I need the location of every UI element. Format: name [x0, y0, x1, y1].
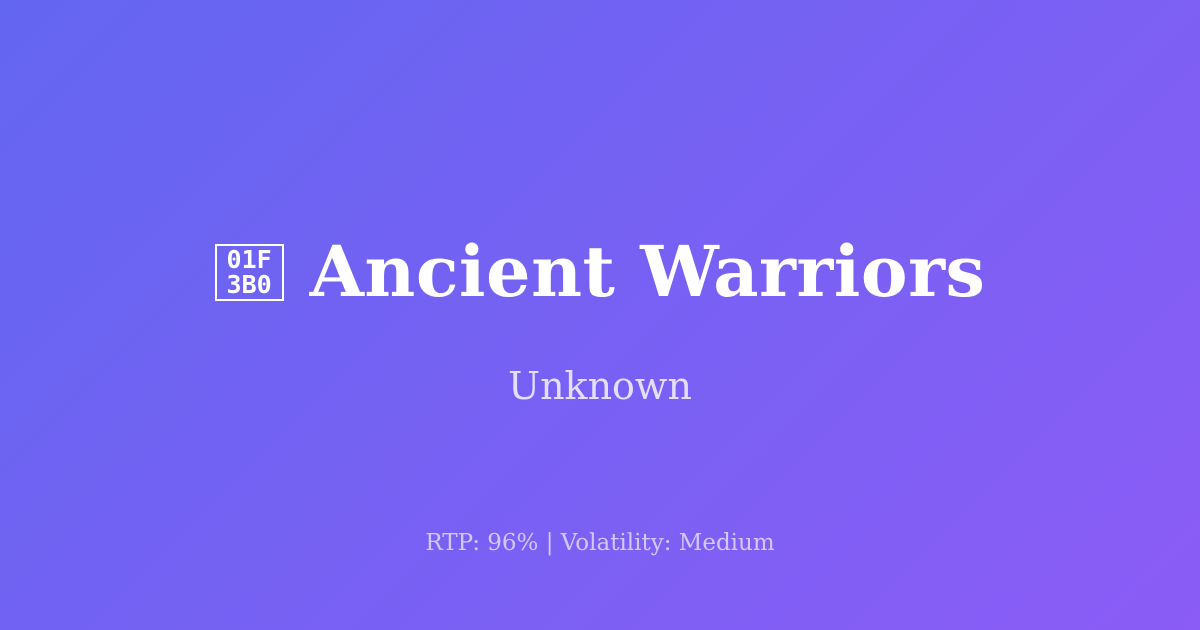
- og-share-card: 01F 3B0 Ancient Warriors Unknown RTP: 96…: [0, 0, 1200, 630]
- tofu-codepoint-line-2: 3B0: [227, 272, 272, 297]
- tofu-codepoint-line-1: 01F: [227, 247, 272, 272]
- page-title: Ancient Warriors: [310, 232, 986, 312]
- slot-machine-emoji-tofu-icon: 01F 3B0: [215, 244, 284, 301]
- game-meta-line: RTP: 96% | Volatility: Medium: [0, 528, 1200, 558]
- title-row: 01F 3B0 Ancient Warriors: [0, 232, 1200, 312]
- provider-subtitle: Unknown: [0, 362, 1200, 410]
